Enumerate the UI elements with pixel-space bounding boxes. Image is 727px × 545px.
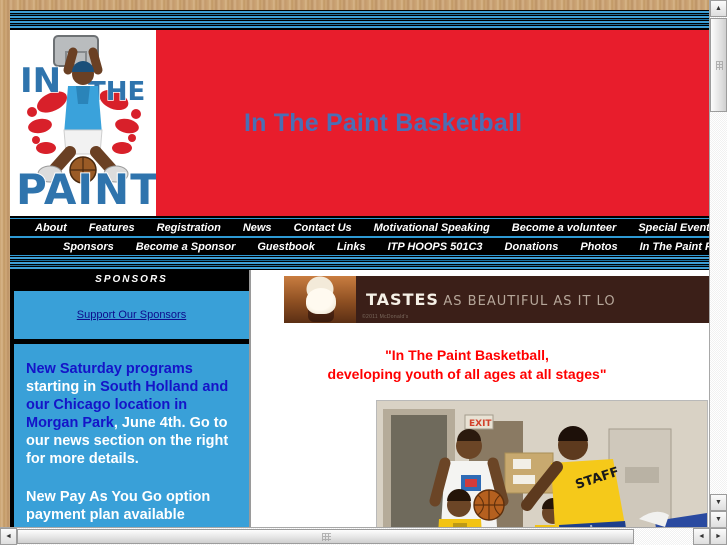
scroll-left-button-secondary[interactable]: ◄	[693, 528, 710, 545]
sponsors-header: SPONSORS	[14, 270, 249, 289]
nav-item-news[interactable]: News	[232, 222, 283, 234]
tagline-line-1: "In The Paint Basketball,	[251, 346, 683, 365]
scroll-down-button[interactable]: ▼	[710, 494, 727, 511]
scroll-right-button[interactable]: ►	[710, 528, 727, 545]
top-stripe-divider	[10, 10, 713, 28]
svg-text:PAINT: PAINT	[16, 165, 156, 214]
nav-item-features[interactable]: Features	[78, 222, 146, 234]
horizontal-scrollbar-thumb[interactable]	[17, 529, 634, 544]
feature-photo-image: EXIT	[377, 401, 707, 527]
grip-icon	[322, 533, 331, 541]
chevron-left-icon: ◄	[5, 533, 12, 540]
feature-photo: EXIT	[376, 400, 708, 527]
grip-icon	[716, 61, 723, 70]
news-text-part: New Pay As You Go option payment plan av…	[26, 489, 210, 523]
in-the-paint-logo-icon: IN THE	[10, 30, 156, 216]
nav-row-primary: About Features Registration News Contact…	[10, 218, 713, 237]
chevron-down-icon: ▼	[715, 499, 722, 506]
chevron-left-icon: ◄	[698, 533, 705, 540]
ad-headline-rest: AS BEAUTIFUL AS IT LO	[443, 294, 615, 309]
site-tagline: "In The Paint Basketball, developing you…	[251, 346, 713, 384]
banner-title: In The Paint Basketball	[156, 30, 713, 216]
nav-item-photos[interactable]: Photos	[569, 241, 628, 253]
chevron-right-icon: ►	[715, 533, 722, 540]
nav-item-in-the-paint-professionals[interactable]: In The Paint Professionals	[629, 241, 713, 253]
ad-headline-strong: TASTES	[366, 290, 439, 309]
web-page-content: IN THE	[10, 10, 713, 527]
nav-item-become-a-volunteer[interactable]: Become a volunteer	[501, 222, 628, 234]
nav-item-sponsors[interactable]: Sponsors	[52, 241, 125, 253]
browser-viewport: IN THE	[0, 0, 727, 545]
nav-row-secondary: Sponsors Become a Sponsor Guestbook Link…	[10, 237, 713, 256]
nav-item-itp-hoops-501c3[interactable]: ITP HOOPS 501C3	[377, 241, 494, 253]
ad-fineprint: ©2011 McDonald's	[362, 314, 409, 320]
sponsors-panel: Support Our Sponsors	[14, 289, 249, 342]
scroll-left-button[interactable]: ◄	[0, 528, 17, 545]
sidebar-news-panel: New Saturday programs starting in South …	[14, 342, 249, 527]
scroll-down-button-secondary[interactable]: ▼	[710, 511, 727, 528]
sidebar-news-item: New Pay As You Go option payment plan av…	[26, 488, 237, 524]
main-column: TASTES AS BEAUTIFUL AS IT LO ©2011 McDon…	[249, 270, 713, 527]
tagline-line-2: developing youth of all ages at all stag…	[251, 365, 683, 384]
horizontal-scrollbar[interactable]: ◄ ◄ ►	[0, 527, 727, 545]
chevron-down-icon: ▼	[715, 516, 722, 523]
nav-item-registration[interactable]: Registration	[146, 222, 232, 234]
main-navigation: About Features Registration News Contact…	[10, 218, 713, 256]
svg-text:IN: IN	[20, 61, 61, 101]
mccafe-cup-icon	[284, 276, 356, 323]
chevron-up-icon: ▲	[715, 5, 722, 12]
support-our-sponsors-link[interactable]: Support Our Sponsors	[77, 309, 186, 321]
nav-item-about[interactable]: About	[24, 222, 78, 234]
ad-headline: TASTES AS BEAUTIFUL AS IT LO	[356, 290, 713, 310]
sidebar-news-item: New Saturday programs starting in South …	[26, 360, 237, 468]
mcdonalds-ad-banner[interactable]: TASTES AS BEAUTIFUL AS IT LO ©2011 McDon…	[284, 276, 713, 323]
nav-item-become-a-sponsor[interactable]: Become a Sponsor	[125, 241, 247, 253]
scroll-up-button[interactable]: ▲	[710, 0, 727, 17]
vertical-scrollbar-thumb[interactable]	[710, 18, 727, 112]
site-header-banner: IN THE	[10, 28, 713, 218]
nav-item-special-events[interactable]: Special Events	[627, 222, 713, 234]
site-logo[interactable]: IN THE	[10, 30, 156, 216]
vertical-scrollbar[interactable]: ▲ ▼ ▼	[709, 0, 727, 528]
nav-item-links[interactable]: Links	[326, 241, 377, 253]
nav-bottom-stripe-divider	[10, 256, 713, 270]
nav-item-donations[interactable]: Donations	[494, 241, 570, 253]
news-text-part: starting in	[26, 379, 100, 395]
sidebar: SPONSORS Support Our Sponsors New Saturd…	[10, 270, 249, 527]
svg-text:EXIT: EXIT	[469, 419, 492, 429]
content-region: SPONSORS Support Our Sponsors New Saturd…	[10, 270, 713, 527]
nav-item-contact-us[interactable]: Contact Us	[283, 222, 363, 234]
news-text-part: New Saturday programs	[26, 361, 193, 377]
nav-item-guestbook[interactable]: Guestbook	[246, 241, 325, 253]
nav-item-motivational-speaking[interactable]: Motivational Speaking	[363, 222, 501, 234]
